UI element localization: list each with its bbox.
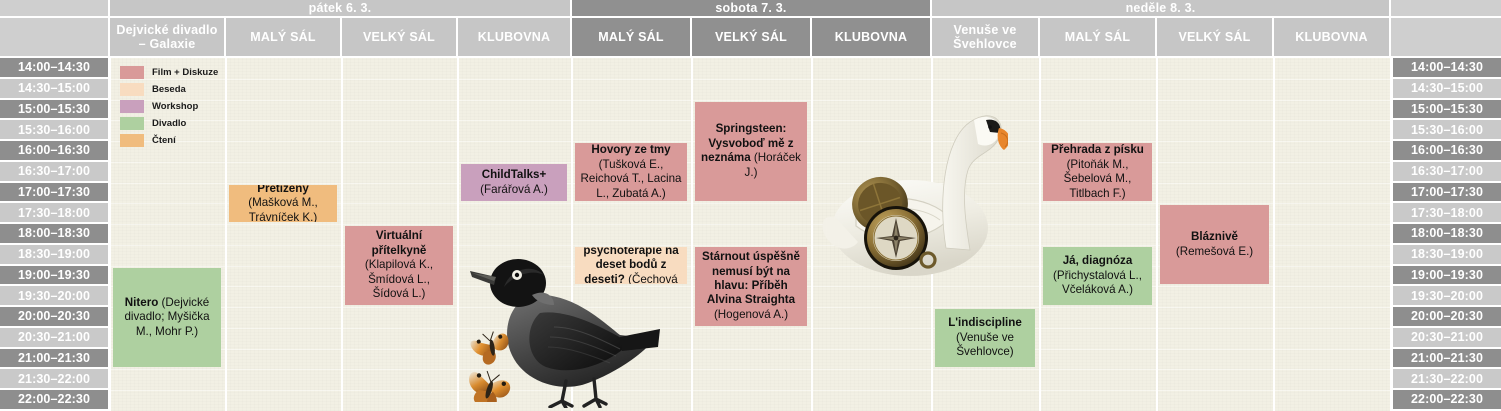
time-slot-left: 21:30–22:00 — [0, 369, 110, 390]
legend-label: Film + Diskuze — [152, 67, 218, 78]
room-header-friday-galaxie[interactable]: Dejvické divadlo – Galaxie — [110, 18, 226, 58]
time-slot-left: 21:00–21:30 — [0, 349, 110, 370]
event-title: L'indiscipline — [948, 316, 1022, 329]
time-slot-left: 19:30–20:00 — [0, 286, 110, 307]
time-slot-right: 19:00–19:30 — [1391, 266, 1501, 287]
column-divider — [811, 58, 813, 411]
column-divider — [341, 58, 343, 411]
room-header-friday-maly-sal[interactable]: MALÝ SÁL — [226, 18, 342, 58]
legend-swatch-beseda — [120, 83, 144, 96]
event-block[interactable]: Springsteen: Vysvoboď mě z neznáma (Horá… — [695, 102, 807, 202]
event-title: Nitero — [125, 296, 159, 309]
time-slot-left: 15:30–16:00 — [0, 120, 110, 141]
time-slot-right: 17:30–18:00 — [1391, 203, 1501, 224]
legend-item: Film + Diskuze — [120, 66, 218, 79]
time-slot-left: 14:30–15:00 — [0, 79, 110, 100]
time-slot-right: 21:00–21:30 — [1391, 349, 1501, 370]
event-block[interactable]: Stárnout úspěšně nemusí být na hlavu: Př… — [695, 247, 807, 326]
time-slot-right: 21:30–22:00 — [1391, 369, 1501, 390]
legend-item: Čtení — [120, 134, 218, 147]
column-divider — [571, 58, 573, 411]
event-title: Virtuální přítelkyně — [372, 229, 427, 256]
room-header-saturday-velky-sal[interactable]: VELKÝ SÁL — [692, 18, 812, 58]
event-detail: (Farářová A.) — [480, 183, 548, 196]
event-block[interactable]: Přetíženy (Mašková M., Trávníček K.) — [229, 185, 337, 223]
time-slot-left: 20:30–21:00 — [0, 328, 110, 349]
legend-swatch-workshop — [120, 100, 144, 113]
category-legend: Film + DiskuzeBesedaWorkshopDivadloČtení — [120, 66, 218, 147]
time-slot-right: 20:30–21:00 — [1391, 328, 1501, 349]
column-divider — [1390, 58, 1392, 411]
time-slot-right: 20:00–20:30 — [1391, 307, 1501, 328]
event-block[interactable]: Přehrada z písku (Pitoňák M., Šebelová M… — [1043, 143, 1152, 201]
legend-item: Divadlo — [120, 117, 218, 130]
column-divider — [1039, 58, 1041, 411]
event-block[interactable]: L'indiscipline (Venuše ve Švehlovce) — [935, 309, 1035, 367]
legend-swatch-cteni — [120, 134, 144, 147]
column-divider — [457, 58, 459, 411]
event-detail: (Remešová E.) — [1176, 245, 1253, 258]
event-detail: (Tušková E., Reichová T., Lacina L., Zub… — [581, 158, 682, 200]
event-detail: (Hogenová A.) — [714, 308, 788, 321]
event-detail: (Pitoňák M., Šebelová M., Titlbach F.) — [1064, 158, 1132, 200]
time-slot-right: 17:00–17:30 — [1391, 183, 1501, 204]
festival-programme-grid: pátek 6. 3. sobota 7. 3. neděle 8. 3. De… — [0, 0, 1501, 411]
time-slot-right: 15:30–16:00 — [1391, 120, 1501, 141]
time-slot-right: 22:00–22:30 — [1391, 390, 1501, 411]
column-divider — [691, 58, 693, 411]
event-block[interactable]: Hovory ze tmy (Tušková E., Reichová T., … — [575, 143, 687, 201]
row-divider — [110, 369, 1391, 370]
event-block[interactable]: Virtuální přítelkyně (Klapilová K., Šmíd… — [345, 226, 453, 305]
room-header-sunday-velky-sal[interactable]: VELKÝ SÁL — [1157, 18, 1274, 58]
row-divider — [110, 328, 1391, 329]
legend-item: Workshop — [120, 100, 218, 113]
time-slot-right: 14:00–14:30 — [1391, 58, 1501, 79]
time-slot-right: 18:00–18:30 — [1391, 224, 1501, 245]
time-slot-left: 17:30–18:00 — [0, 203, 110, 224]
event-detail: (Venuše ve Švehlovce) — [956, 331, 1014, 358]
room-header-saturday-maly-sal[interactable]: MALÝ SÁL — [572, 18, 692, 58]
event-detail: (Přichystalová L., Včeláková A.) — [1053, 269, 1142, 296]
event-title: Přehrada z písku — [1051, 143, 1144, 156]
legend-item: Beseda — [120, 83, 218, 96]
event-title: Bláznivě — [1191, 230, 1238, 243]
legend-label: Čtení — [152, 135, 176, 146]
room-header-friday-velky-sal[interactable]: VELKÝ SÁL — [342, 18, 458, 58]
time-slot-left: 15:00–15:30 — [0, 100, 110, 121]
event-title: ChildTalks+ — [482, 168, 547, 181]
time-slot-left: 22:00–22:30 — [0, 390, 110, 411]
room-header-sunday-maly-sal[interactable]: MALÝ SÁL — [1040, 18, 1157, 58]
time-slot-right: 16:00–16:30 — [1391, 141, 1501, 162]
time-slot-right: 14:30–15:00 — [1391, 79, 1501, 100]
room-header-saturday-klubovna[interactable]: KLUBOVNA — [812, 18, 932, 58]
legend-label: Beseda — [152, 84, 186, 95]
time-slot-left: 19:00–19:30 — [0, 266, 110, 287]
time-slot-left: 14:00–14:30 — [0, 58, 110, 79]
event-title: Stárnout úspěšně nemusí být na hlavu: Př… — [702, 250, 800, 306]
event-title: Já, diagnóza — [1063, 254, 1133, 267]
time-slot-right: 15:00–15:30 — [1391, 100, 1501, 121]
room-header-spacer-right — [1391, 18, 1501, 58]
time-slot-right: 18:30–19:00 — [1391, 245, 1501, 266]
column-divider — [109, 58, 111, 411]
event-detail: (Mašková M., Trávníček K.) — [248, 196, 318, 222]
room-header-spacer-left — [0, 18, 110, 58]
room-header-friday-klubovna[interactable]: KLUBOVNA — [458, 18, 572, 58]
column-divider — [1156, 58, 1158, 411]
day-header-friday: pátek 6. 3. — [110, 0, 572, 18]
event-block[interactable]: Já, diagnóza (Přichystalová L., Včelákov… — [1043, 247, 1152, 305]
event-block[interactable]: Bláznivě (Remešová E.) — [1160, 205, 1269, 284]
corner-blank-left — [0, 0, 110, 18]
column-divider — [225, 58, 227, 411]
time-slot-right: 16:30–17:00 — [1391, 162, 1501, 183]
day-header-sunday: neděle 8. 3. — [932, 0, 1391, 18]
room-header-sunday-venuse[interactable]: Venuše ve Švehlovce — [932, 18, 1040, 58]
event-block[interactable]: Nitero (Dejvické divadlo; Myšička M., Mo… — [113, 268, 221, 368]
time-slot-left: 18:30–19:00 — [0, 245, 110, 266]
event-detail: (Klapilová K., Šmídová L., Šídová L.) — [365, 258, 433, 300]
row-divider — [110, 79, 1391, 80]
row-divider — [110, 100, 1391, 101]
column-divider — [1273, 58, 1275, 411]
event-detail: (Horáček J.) — [745, 151, 801, 178]
time-slot-left: 20:00–20:30 — [0, 307, 110, 328]
row-divider — [110, 390, 1391, 391]
room-header-sunday-klubovna[interactable]: KLUBOVNA — [1274, 18, 1391, 58]
corner-blank-right — [1391, 0, 1501, 18]
time-slot-left: 18:00–18:30 — [0, 224, 110, 245]
time-slot-left: 17:00–17:30 — [0, 183, 110, 204]
legend-label: Workshop — [152, 101, 198, 112]
event-block[interactable]: ChildTalks+ (Farářová A.) — [461, 164, 567, 202]
row-divider — [110, 349, 1391, 350]
event-block[interactable]: Je vždy psychoterapie na deset bodů z de… — [575, 247, 687, 285]
legend-label: Divadlo — [152, 118, 186, 129]
time-slot-left: 16:30–17:00 — [0, 162, 110, 183]
legend-swatch-film — [120, 66, 144, 79]
column-divider — [931, 58, 933, 411]
event-title: Přetíženy — [257, 185, 309, 195]
time-slot-right: 19:30–20:00 — [1391, 286, 1501, 307]
day-header-saturday: sobota 7. 3. — [572, 0, 932, 18]
time-slot-left: 16:00–16:30 — [0, 141, 110, 162]
event-title: Hovory ze tmy — [591, 143, 670, 156]
legend-swatch-divadlo — [120, 117, 144, 130]
